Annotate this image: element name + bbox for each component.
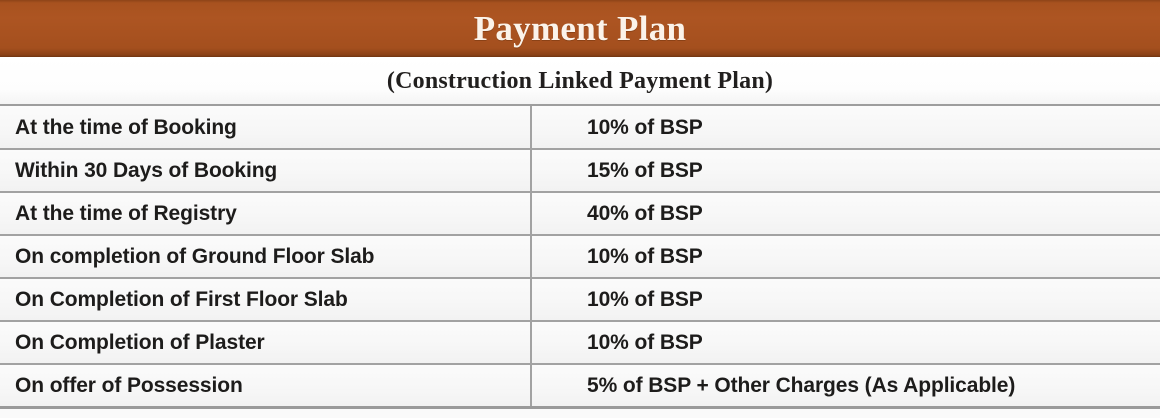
milestone-label: On offer of Possession [0, 374, 530, 397]
amount-label: 10% of BSP [532, 288, 1160, 311]
amount-label: 10% of BSP [532, 331, 1160, 354]
payment-plan-table-body: At the time of Booking 10% of BSP Within… [0, 106, 1160, 407]
payment-plan-title-bar: Payment Plan [0, 0, 1160, 57]
milestone-cell: At the time of Booking [0, 106, 531, 149]
milestone-cell: On Completion of Plaster [0, 321, 531, 364]
amount-cell: 10% of BSP [531, 278, 1160, 321]
amount-cell: 15% of BSP [531, 149, 1160, 192]
milestone-label: On completion of Ground Floor Slab [0, 245, 530, 268]
table-row: At the time of Booking 10% of BSP [0, 106, 1160, 149]
amount-cell: 10% of BSP [531, 106, 1160, 149]
amount-cell: 40% of BSP [531, 192, 1160, 235]
amount-label: 10% of BSP [532, 245, 1160, 268]
milestone-label: On Completion of First Floor Slab [0, 288, 530, 311]
amount-cell: 5% of BSP + Other Charges (As Applicable… [531, 364, 1160, 407]
table-row: At the time of Registry 40% of BSP [0, 192, 1160, 235]
payment-plan-sheet: Payment Plan (Construction Linked Paymen… [0, 0, 1160, 418]
milestone-label: At the time of Booking [0, 116, 530, 139]
milestone-label: Within 30 Days of Booking [0, 159, 530, 182]
milestone-cell: At the time of Registry [0, 192, 531, 235]
amount-cell: 10% of BSP [531, 321, 1160, 364]
milestone-cell: On offer of Possession [0, 364, 531, 407]
amount-label: 40% of BSP [532, 202, 1160, 225]
table-row: Within 30 Days of Booking 15% of BSP [0, 149, 1160, 192]
payment-plan-table: At the time of Booking 10% of BSP Within… [0, 106, 1160, 409]
table-row: On completion of Ground Floor Slab 10% o… [0, 235, 1160, 278]
milestone-cell: Within 30 Days of Booking [0, 149, 531, 192]
milestone-label: On Completion of Plaster [0, 331, 530, 354]
amount-label: 10% of BSP [532, 116, 1160, 139]
milestone-label: At the time of Registry [0, 202, 530, 225]
table-row: On offer of Possession 5% of BSP + Other… [0, 364, 1160, 407]
table-row: On Completion of Plaster 10% of BSP [0, 321, 1160, 364]
amount-cell: 10% of BSP [531, 235, 1160, 278]
amount-label: 5% of BSP + Other Charges (As Applicable… [532, 374, 1160, 397]
page-title: Payment Plan [474, 11, 687, 47]
milestone-cell: On completion of Ground Floor Slab [0, 235, 531, 278]
table-row: On Completion of First Floor Slab 10% of… [0, 278, 1160, 321]
milestone-cell: On Completion of First Floor Slab [0, 278, 531, 321]
payment-plan-subtitle-row: (Construction Linked Payment Plan) [0, 57, 1160, 106]
page-subtitle: (Construction Linked Payment Plan) [387, 68, 773, 94]
amount-label: 15% of BSP [532, 159, 1160, 182]
